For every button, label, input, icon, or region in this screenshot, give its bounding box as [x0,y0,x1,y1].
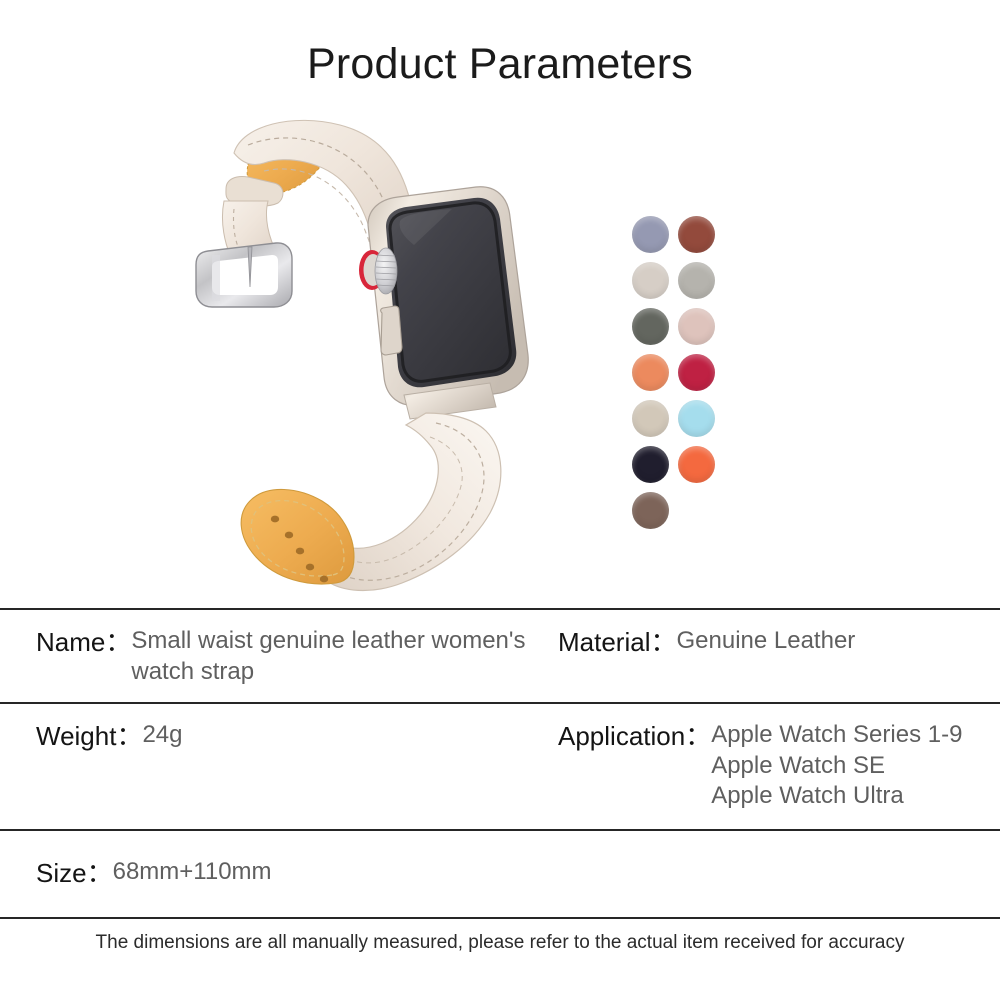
swatch-sand[interactable] [632,400,669,437]
spec-cell-material: Material： Genuine Leather [548,610,1000,702]
strap-buckle [196,243,292,307]
spec-value-application-line1: Apple Watch Series 1-9 [711,720,962,751]
spec-label-material: Material： [558,626,676,659]
spec-label-size: Size： [36,857,113,890]
spec-value-name-line2: watch strap [131,657,525,688]
spec-cell-size: Size： 68mm+110mm [0,831,548,917]
page-title: Product Parameters [0,40,1000,89]
table-row: Size： 68mm+110mm [0,831,1000,917]
color-swatch-grid [630,216,730,546]
apple-watch-illustration [190,105,590,595]
swatch-dusty-pink[interactable] [678,308,715,345]
spec-value-application: Apple Watch Series 1-9 Apple Watch SE Ap… [711,720,962,812]
spec-table: Name： Small waist genuine leather women'… [0,608,1000,919]
swatch-sky-blue[interactable] [678,400,715,437]
table-row: Name： Small waist genuine leather women'… [0,610,1000,702]
spec-label-name: Name： [36,626,131,659]
swatch-salmon[interactable] [632,354,669,391]
strap-tail-underside [241,489,354,584]
spec-cell-name: Name： Small waist genuine leather women'… [0,610,548,702]
spec-value-application-line2: Apple Watch SE [711,751,962,782]
watch-case [359,187,528,419]
table-row: Weight： 24g Application： Apple Watch Ser… [0,704,1000,829]
swatch-dark-navy[interactable] [632,446,669,483]
product-hero [0,100,1000,605]
strap-lower-body [330,413,501,591]
spec-label-application: Application： [558,720,711,753]
spec-value-size: 68mm+110mm [113,857,272,888]
swatch-gray-blue[interactable] [632,216,669,253]
spec-value-name: Small waist genuine leather women's watc… [131,626,525,687]
product-image [190,105,590,595]
swatch-dark-gray[interactable] [632,308,669,345]
spec-value-name-line1: Small waist genuine leather women's [131,626,525,657]
spec-value-weight: 24g [142,720,182,751]
swatch-crimson[interactable] [678,354,715,391]
swatch-taupe-brown[interactable] [632,492,669,529]
spec-value-application-line3: Apple Watch Ultra [711,781,962,812]
swatch-coral[interactable] [678,446,715,483]
spec-value-material: Genuine Leather [676,626,855,657]
spec-cell-size-empty [548,831,1000,917]
swatch-light-beige[interactable] [632,262,669,299]
watch-side-button[interactable] [381,306,402,355]
spec-cell-weight: Weight： 24g [0,704,548,829]
table-divider-bottom [0,917,1000,919]
spec-cell-application: Application： Apple Watch Series 1-9 Appl… [548,704,1000,829]
spec-label-weight: Weight： [36,720,142,753]
swatch-warm-gray[interactable] [678,262,715,299]
swatch-brick-brown[interactable] [678,216,715,253]
watch-digital-crown[interactable] [359,248,397,294]
footer-disclaimer: The dimensions are all manually measured… [0,932,1000,954]
